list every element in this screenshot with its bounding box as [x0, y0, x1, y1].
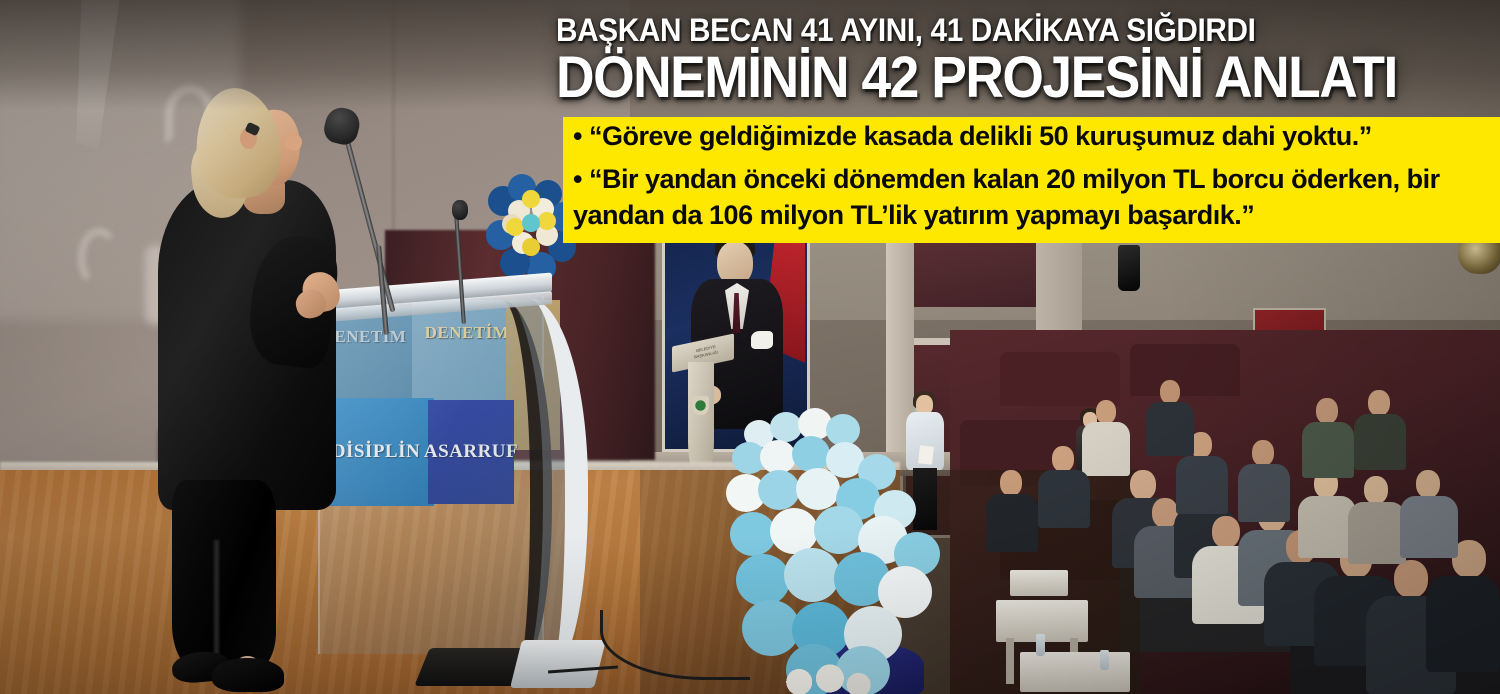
balloon-petal-yellow	[538, 212, 556, 230]
table-leg	[1006, 638, 1014, 684]
news-photo-banner: ÇIKIŞ BELEDİYE BAŞKANLIĞI	[0, 0, 1500, 694]
balloon	[730, 512, 776, 556]
balloon-petal-yellow	[522, 190, 540, 208]
microphone-icon	[452, 200, 468, 220]
balloon	[814, 506, 864, 554]
balloon	[770, 412, 802, 442]
speaker-shoe	[212, 658, 284, 692]
water-bottle-icon	[1036, 634, 1045, 656]
municipal-crest-icon	[692, 396, 709, 415]
balloon-arch	[726, 408, 996, 694]
water-bottle-icon	[1100, 650, 1109, 670]
speaker-leg-seam	[214, 540, 219, 660]
balloon	[758, 470, 800, 510]
wall-speaker-icon	[1118, 245, 1140, 291]
balloon	[792, 436, 830, 472]
poster-pocket-square	[751, 331, 773, 349]
page-title: DÖNEMİNİN 42 PROJESİNİ ANLATI	[556, 50, 1424, 107]
kicker-line: BAŞKAN BECAN 41 AYINI, 41 DAKİKAYA SIĞDI…	[556, 14, 1434, 46]
balloon	[736, 554, 790, 606]
lectern-base	[510, 640, 606, 688]
balloon	[784, 548, 840, 602]
balloon-center	[522, 214, 540, 232]
speaker-legs	[172, 480, 276, 670]
seat-row	[1000, 352, 1120, 406]
flower-arrangement-icon	[780, 664, 876, 694]
projection-glyph	[78, 228, 120, 288]
quote-banner-1: • “Göreve geldiğimizde kasada delikli 50…	[563, 117, 1500, 158]
balloon	[760, 440, 796, 474]
side-table	[1020, 652, 1130, 692]
seat-row	[1130, 344, 1240, 396]
lectern-body	[688, 362, 714, 474]
balloon-petal-yellow	[522, 238, 540, 256]
side-table	[1010, 570, 1068, 596]
headline-block: BAŞKAN BECAN 41 AYINI, 41 DAKİKAYA SIĞDI…	[556, 14, 1500, 107]
balloon	[796, 468, 840, 510]
secondary-lectern: BELEDİYE BAŞKANLIĞI	[672, 340, 734, 470]
quote-banner-2: • “Bir yandan önceki dönemden kalan 20 m…	[563, 157, 1500, 243]
